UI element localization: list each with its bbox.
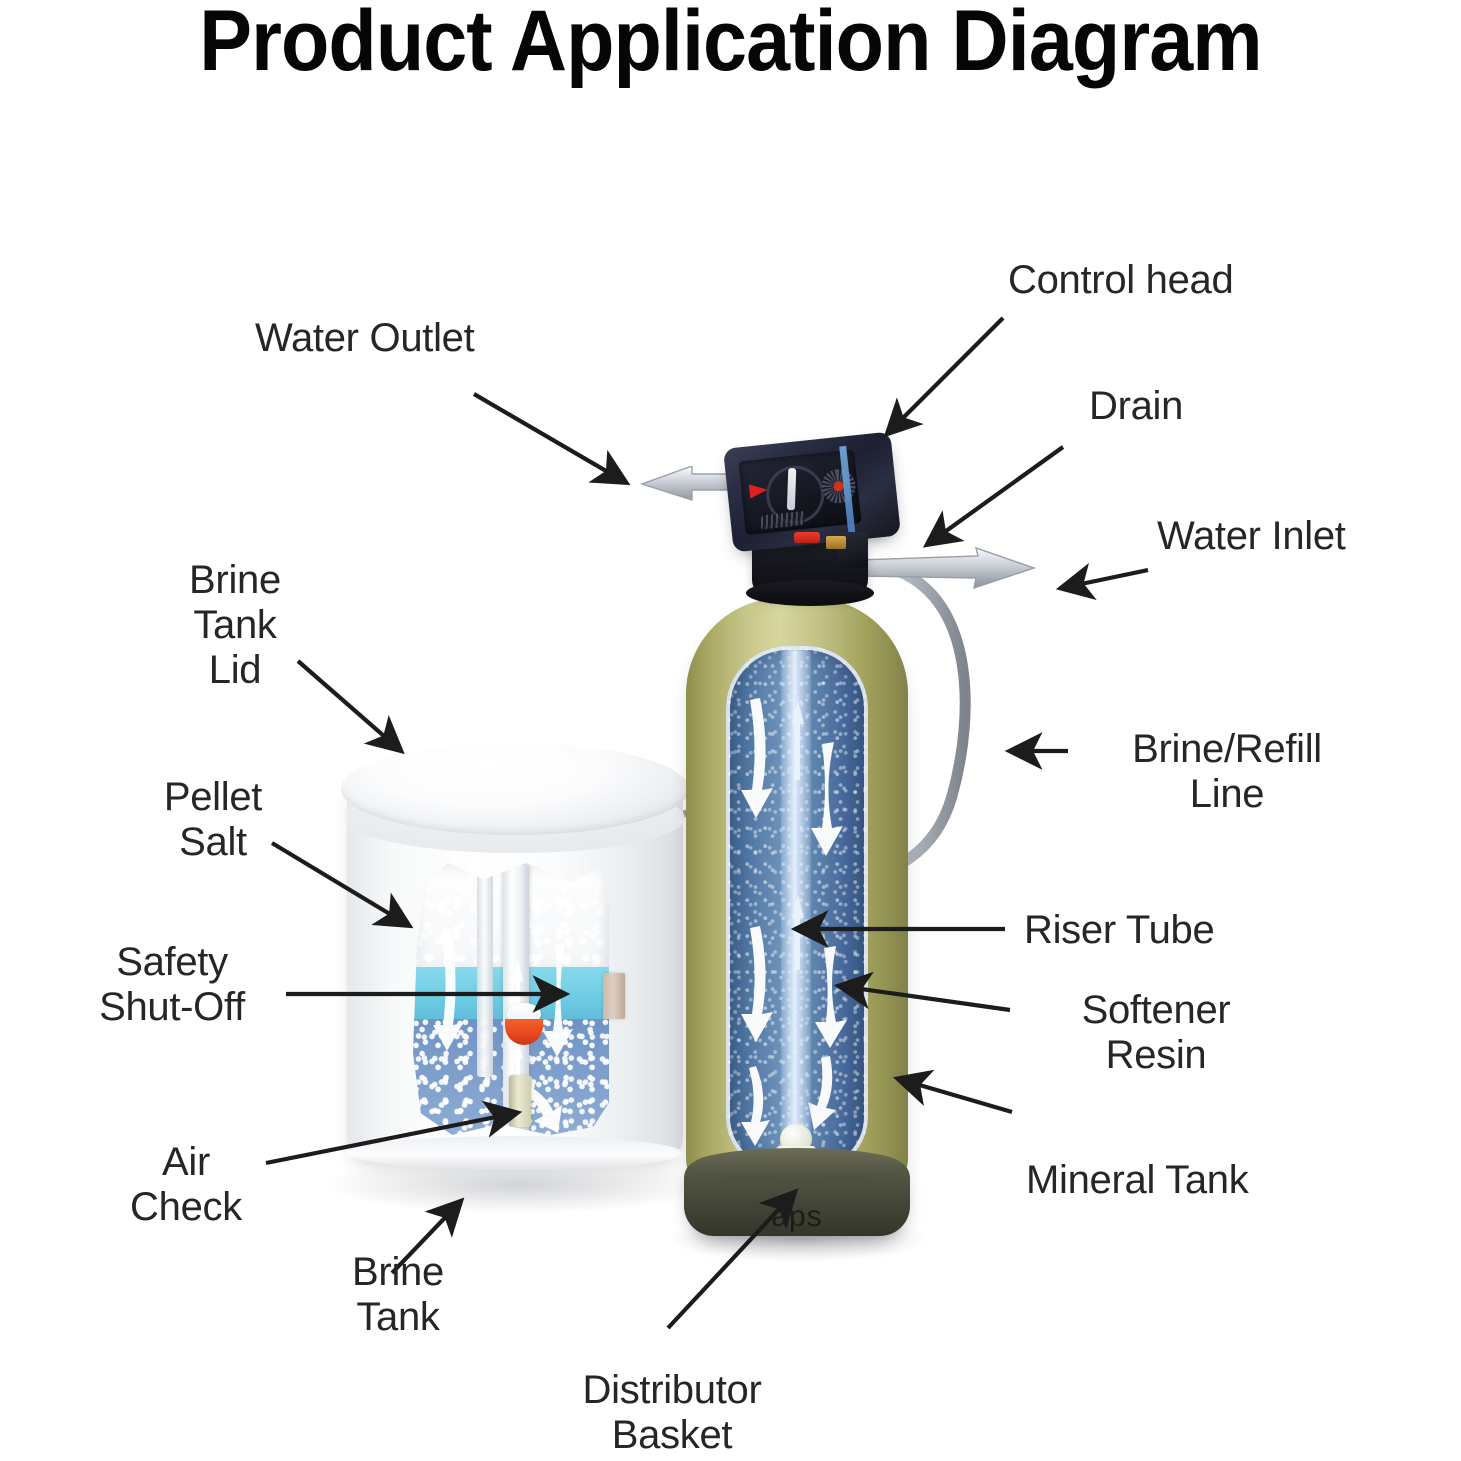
vent-grille-icon bbox=[761, 511, 805, 530]
label-water-inlet: Water Inlet bbox=[1157, 514, 1346, 559]
timer-dial-needle bbox=[787, 468, 796, 510]
tank-brand-mark: aps bbox=[686, 1200, 908, 1234]
label-air-check: Air Check bbox=[96, 1140, 276, 1230]
brine-tank[interactable] bbox=[335, 735, 695, 1190]
label-softener-resin: Softener Resin bbox=[1028, 988, 1284, 1078]
label-brine-tank-lid: Brine Tank Lid bbox=[140, 558, 330, 692]
label-pellet-salt: Pellet Salt bbox=[118, 775, 308, 865]
leader-mineral-tank bbox=[899, 1079, 1012, 1112]
mineral-tank[interactable]: aps bbox=[686, 588, 908, 1248]
cycle-indicator-icon bbox=[749, 483, 768, 499]
riser-tube bbox=[781, 650, 811, 1150]
leader-water-inlet bbox=[1062, 570, 1148, 588]
label-water-outlet: Water Outlet bbox=[255, 316, 474, 361]
brass-fitting bbox=[826, 536, 846, 549]
label-brine-tank: Brine Tank bbox=[308, 1250, 488, 1340]
label-control-head: Control head bbox=[1008, 258, 1233, 303]
brine-tank-fitting bbox=[603, 973, 625, 1019]
leader-water-outlet bbox=[474, 394, 625, 482]
diagram-canvas: Product Application Diagram bbox=[0, 0, 1461, 1461]
air-check-valve bbox=[509, 1075, 531, 1127]
label-riser-tube: Riser Tube bbox=[1024, 908, 1214, 953]
leader-drain bbox=[928, 447, 1063, 544]
label-mineral-tank: Mineral Tank bbox=[1026, 1158, 1248, 1203]
brine-tank-cutaway bbox=[413, 863, 609, 1135]
label-safety-shut-off: Safety Shut-Off bbox=[58, 940, 286, 1030]
page-title: Product Application Diagram bbox=[58, 0, 1402, 86]
bypass-red-tab bbox=[794, 532, 820, 543]
control-head[interactable] bbox=[722, 432, 912, 602]
leader-control-head bbox=[888, 318, 1003, 433]
brine-tank-lid[interactable] bbox=[341, 743, 689, 835]
label-brine-refill-line: Brine/Refill Line bbox=[1082, 727, 1372, 817]
label-drain: Drain bbox=[1089, 384, 1183, 429]
label-distributor-basket: Distributor Basket bbox=[472, 1368, 872, 1458]
